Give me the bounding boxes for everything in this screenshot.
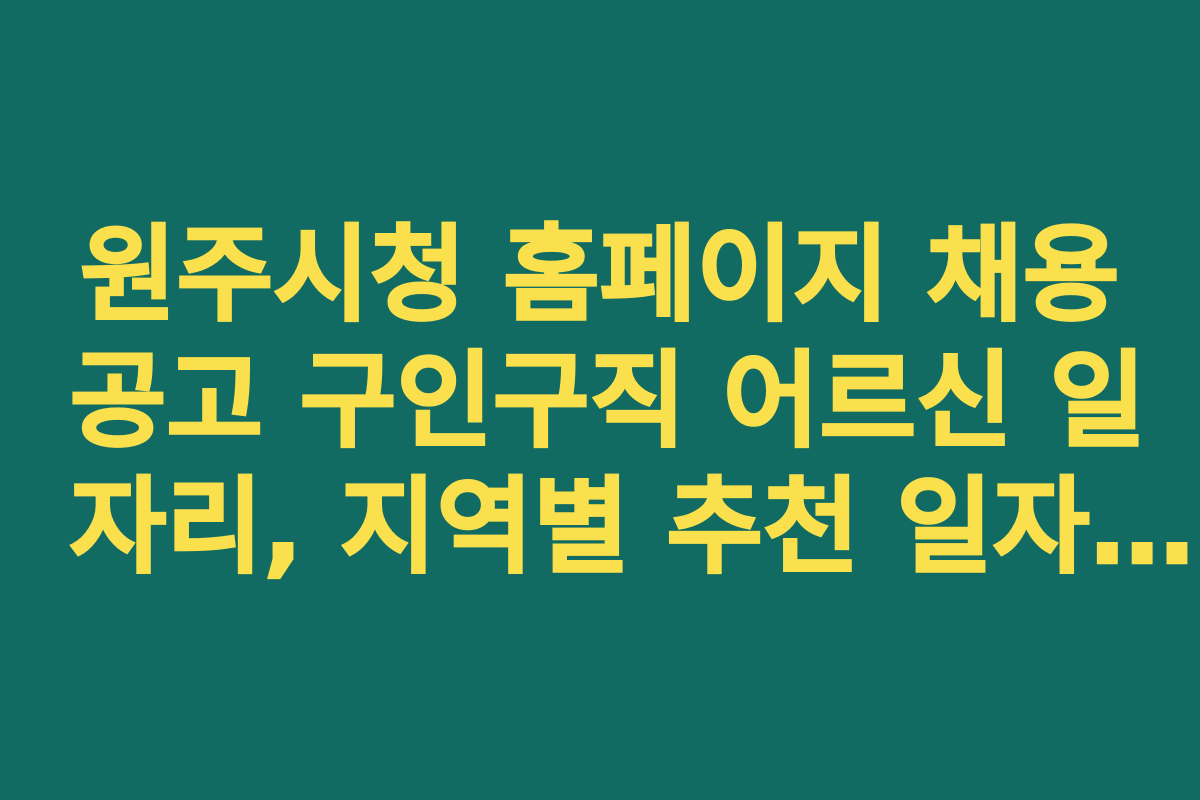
- headline-text-block: 원주시청 홈페이지 채용 공고 구인구직 어르신 일 자리, 지역별 추천 일자…: [70, 213, 1130, 591]
- thumbnail-card: 원주시청 홈페이지 채용 공고 구인구직 어르신 일 자리, 지역별 추천 일자…: [0, 0, 1200, 800]
- headline-line-1: 원주시청 홈페이지 채용: [70, 213, 1130, 339]
- headline-line-3: 자리, 지역별 추천 일자…: [70, 465, 1130, 591]
- headline-line-2: 공고 구인구직 어르신 일: [70, 339, 1130, 465]
